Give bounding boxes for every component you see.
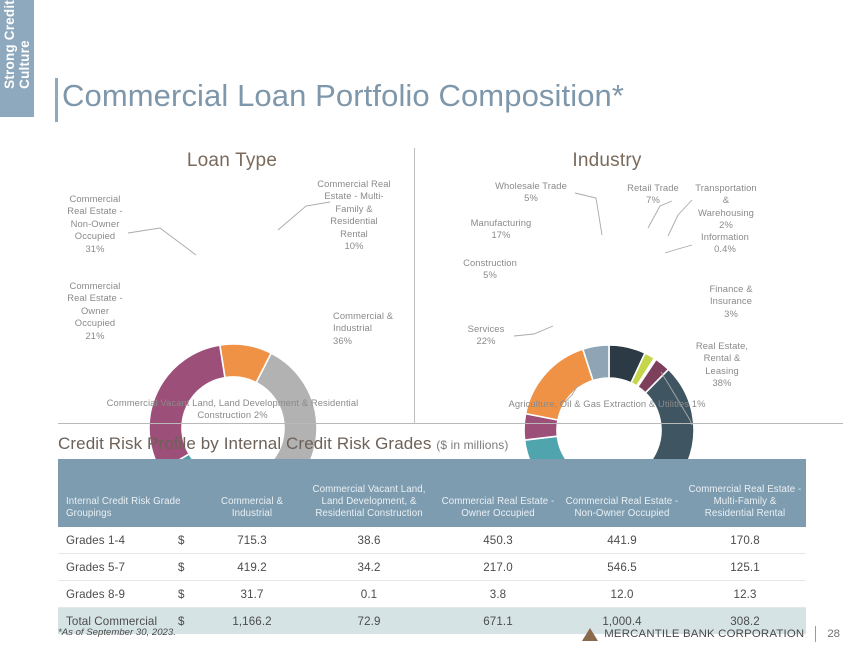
page-number: 28 bbox=[827, 628, 840, 640]
table-section-heading: Credit Risk Profile by Internal Credit R… bbox=[58, 434, 508, 454]
table-cell: 72.9 bbox=[302, 608, 436, 635]
industry-label-transportation: Transportation&Warehousing2% bbox=[686, 182, 766, 232]
credit-risk-table: Internal Credit Risk Grade Groupings Com… bbox=[58, 459, 806, 634]
table-heading-units: ($ in millions) bbox=[436, 438, 508, 452]
col-header-commercial-industrial: Commercial & Industrial bbox=[202, 459, 302, 527]
table-row: Grades 8-9$31.70.13.812.012.3 bbox=[58, 581, 806, 608]
table-cell: 1,166.2 bbox=[202, 608, 302, 635]
loan-label-owner-occupied: CommercialReal Estate -OwnerOccupied21% bbox=[55, 280, 135, 342]
brand-name: MERCANTILE BANK CORPORATION bbox=[604, 628, 804, 640]
brand-divider bbox=[815, 626, 816, 642]
title-accent-rule bbox=[55, 78, 58, 122]
row-label: Grades 5-7 bbox=[58, 554, 176, 581]
table-cell: 170.8 bbox=[684, 527, 806, 554]
table-cell: 38.6 bbox=[302, 527, 436, 554]
table-cell: 3.8 bbox=[436, 581, 560, 608]
industry-label-construction: Construction5% bbox=[449, 257, 531, 282]
table-cell: 217.0 bbox=[436, 554, 560, 581]
row-currency-symbol: $ bbox=[176, 581, 202, 608]
brand-block: MERCANTILE BANK CORPORATION 28 bbox=[582, 626, 840, 642]
table-cell: 546.5 bbox=[560, 554, 684, 581]
loan-label-commercial-industrial: Commercial &Industrial36% bbox=[333, 310, 427, 347]
table-cell: 125.1 bbox=[684, 554, 806, 581]
table-cell: 12.0 bbox=[560, 581, 684, 608]
section-divider bbox=[58, 423, 843, 424]
table-cell: 441.9 bbox=[560, 527, 684, 554]
table-cell: 0.1 bbox=[302, 581, 436, 608]
row-currency-symbol: $ bbox=[176, 527, 202, 554]
table-heading-text: Credit Risk Profile by Internal Credit R… bbox=[58, 434, 431, 453]
col-header-non-owner-occupied: Commercial Real Estate - Non-Owner Occup… bbox=[560, 459, 684, 527]
table-cell: 715.3 bbox=[202, 527, 302, 554]
loan-label-vacant-land: Commercial Vacant Land, Land Development… bbox=[100, 397, 365, 422]
col-header-owner-occupied: Commercial Real Estate - Owner Occupied bbox=[436, 459, 560, 527]
loan-label-multi-family: Commercial RealEstate - Multi-Family &Re… bbox=[308, 178, 400, 252]
table-cell: 34.2 bbox=[302, 554, 436, 581]
table-cell: 450.3 bbox=[436, 527, 560, 554]
col-header-grade-groupings: Internal Credit Risk Grade Groupings bbox=[58, 459, 202, 527]
table-cell: 12.3 bbox=[684, 581, 806, 608]
section-tab-label: Strong CreditCulture bbox=[2, 0, 32, 95]
table-cell: 31.7 bbox=[202, 581, 302, 608]
industry-label-retail-trade: Retail Trade7% bbox=[617, 182, 689, 207]
row-currency-symbol: $ bbox=[176, 554, 202, 581]
mercantile-triangle-icon bbox=[582, 628, 598, 641]
industry-label-agriculture: Agriculture, Oil & Gas Extraction & Util… bbox=[452, 398, 762, 410]
industry-label-finance-insurance: Finance &Insurance3% bbox=[698, 283, 764, 320]
section-tab-strong-credit-culture: Strong CreditCulture bbox=[0, 0, 34, 117]
charts-region: Loan Type Industry Commercia bbox=[0, 140, 850, 425]
loan-label-non-owner-occupied: CommercialReal Estate -Non-OwnerOccupied… bbox=[55, 193, 135, 255]
row-label: Grades 1-4 bbox=[58, 527, 176, 554]
col-header-multi-family: Commercial Real Estate - Multi-Family & … bbox=[684, 459, 806, 527]
col-header-vacant-land: Commercial Vacant Land, Land Development… bbox=[302, 459, 436, 527]
table-cell: 671.1 bbox=[436, 608, 560, 635]
industry-label-real-estate-rental: Real Estate,Rental &Leasing38% bbox=[686, 340, 758, 390]
industry-label-manufacturing: Manufacturing17% bbox=[455, 217, 547, 242]
loan-type-chart-title: Loan Type bbox=[82, 150, 382, 172]
row-currency-symbol: $ bbox=[176, 608, 202, 635]
chart-divider bbox=[414, 148, 415, 423]
row-label: Grades 8-9 bbox=[58, 581, 176, 608]
industry-label-information: Information0.4% bbox=[688, 231, 762, 256]
table-row: Grades 5-7$419.234.2217.0546.5125.1 bbox=[58, 554, 806, 581]
industry-label-wholesale-trade: Wholesale Trade5% bbox=[482, 180, 580, 205]
industry-chart-title: Industry bbox=[457, 150, 757, 172]
page-title: Commercial Loan Portfolio Composition* bbox=[62, 78, 624, 114]
table-cell: 419.2 bbox=[202, 554, 302, 581]
table-row: Grades 1-4$715.338.6450.3441.9170.8 bbox=[58, 527, 806, 554]
industry-label-services: Services22% bbox=[455, 323, 517, 348]
table-header-row: Internal Credit Risk Grade Groupings Com… bbox=[58, 459, 806, 527]
footnote: *As of September 30, 2023. bbox=[58, 627, 176, 638]
